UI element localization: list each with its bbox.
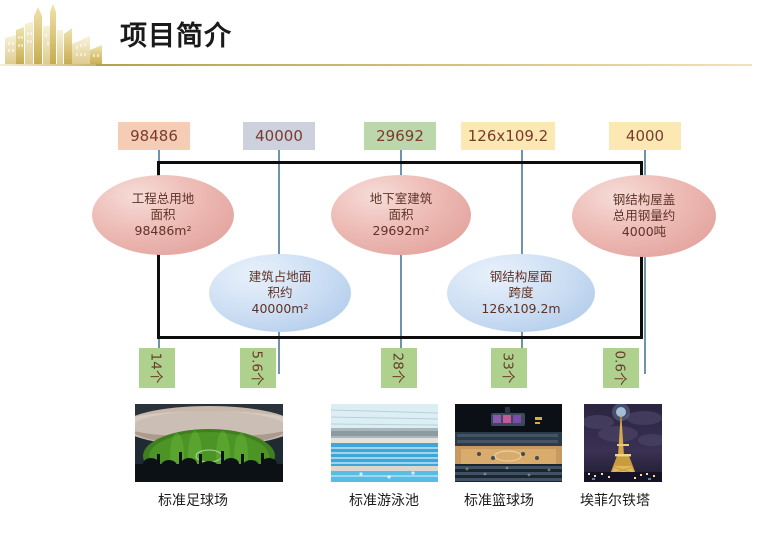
green-tag-label: 33个 bbox=[499, 353, 519, 384]
eiffel-tower-image bbox=[584, 404, 662, 482]
caption-football-stadium: 标准足球场 bbox=[158, 490, 228, 510]
page-title: 项目简介 bbox=[120, 14, 232, 53]
ellipse-line-1: 地下室建筑 bbox=[370, 191, 433, 207]
ellipse-line-2: 总用钢量约 bbox=[613, 208, 676, 224]
value-box-building-footprint: 40000 bbox=[243, 122, 315, 150]
green-tag-pool-count: 28个 bbox=[381, 348, 417, 388]
photo-swimming-pool bbox=[331, 404, 438, 482]
green-tag-basketball-count: 33个 bbox=[491, 348, 527, 388]
green-tag-label: 5.6个 bbox=[248, 351, 268, 386]
ellipse-line-1: 钢结构屋面 bbox=[490, 269, 553, 285]
photo-basketball-arena bbox=[455, 404, 562, 482]
ellipse-line-3: 40000m² bbox=[252, 301, 309, 317]
photo-football-stadium bbox=[135, 404, 283, 482]
value-box-roof-span: 126x109.2 bbox=[461, 122, 555, 150]
caption-eiffel-tower: 埃菲尔铁塔 bbox=[580, 490, 650, 510]
ellipse-line-2: 积约 bbox=[267, 285, 292, 301]
ellipse-line-3: 29692m² bbox=[373, 223, 430, 239]
basketball-arena-image bbox=[455, 404, 562, 482]
ellipse-line-2: 面积 bbox=[388, 207, 413, 223]
ellipse-basement-area: 地下室建筑 面积 29692m² bbox=[331, 175, 471, 255]
green-tag-football-count: 14个 bbox=[139, 348, 175, 388]
caption-swimming-pool: 标准游泳池 bbox=[349, 490, 419, 510]
green-tag-label: 28个 bbox=[389, 353, 409, 384]
green-tag-eiffel-count: 0.6个 bbox=[603, 348, 639, 388]
ellipse-total-land-area: 工程总用地 面积 98486m² bbox=[92, 175, 234, 255]
value-box-basement-area: 29692 bbox=[364, 122, 436, 150]
swimming-pool-image bbox=[331, 404, 438, 482]
ellipse-line-2: 跨度 bbox=[508, 285, 533, 301]
ellipse-building-footprint: 建筑占地面 积约 40000m² bbox=[209, 254, 351, 332]
football-stadium-image bbox=[135, 404, 283, 482]
ellipse-line-1: 建筑占地面 bbox=[249, 269, 312, 285]
ellipse-line-3: 98486m² bbox=[135, 223, 192, 239]
ellipse-roof-span: 钢结构屋面 跨度 126x109.2m bbox=[447, 254, 595, 332]
ellipse-line-1: 工程总用地 bbox=[132, 191, 195, 207]
ellipse-line-1: 钢结构屋盖 bbox=[613, 192, 676, 208]
project-overview-diagram: 98486 40000 29692 126x109.2 4000 工程总用地 面… bbox=[0, 72, 760, 546]
value-box-total-land-area: 98486 bbox=[118, 122, 190, 150]
header-rule bbox=[96, 64, 752, 66]
header-rule-left bbox=[0, 64, 96, 66]
ellipse-line-3: 126x109.2m bbox=[481, 301, 560, 317]
ellipse-line-3: 4000吨 bbox=[622, 224, 666, 240]
green-tag-pool-ratio: 5.6个 bbox=[240, 348, 276, 388]
green-tag-label: 14个 bbox=[147, 353, 167, 384]
photo-eiffel-tower bbox=[584, 404, 662, 482]
caption-basketball-arena: 标准篮球场 bbox=[464, 490, 534, 510]
page-header: 项目简介 bbox=[0, 0, 760, 72]
green-tag-label: 0.6个 bbox=[611, 351, 631, 386]
ellipse-steel-tonnage: 钢结构屋盖 总用钢量约 4000吨 bbox=[572, 175, 716, 257]
value-box-steel-tonnage: 4000 bbox=[609, 122, 681, 150]
ellipse-line-2: 面积 bbox=[150, 207, 175, 223]
city-skyline-icon bbox=[2, 4, 106, 68]
